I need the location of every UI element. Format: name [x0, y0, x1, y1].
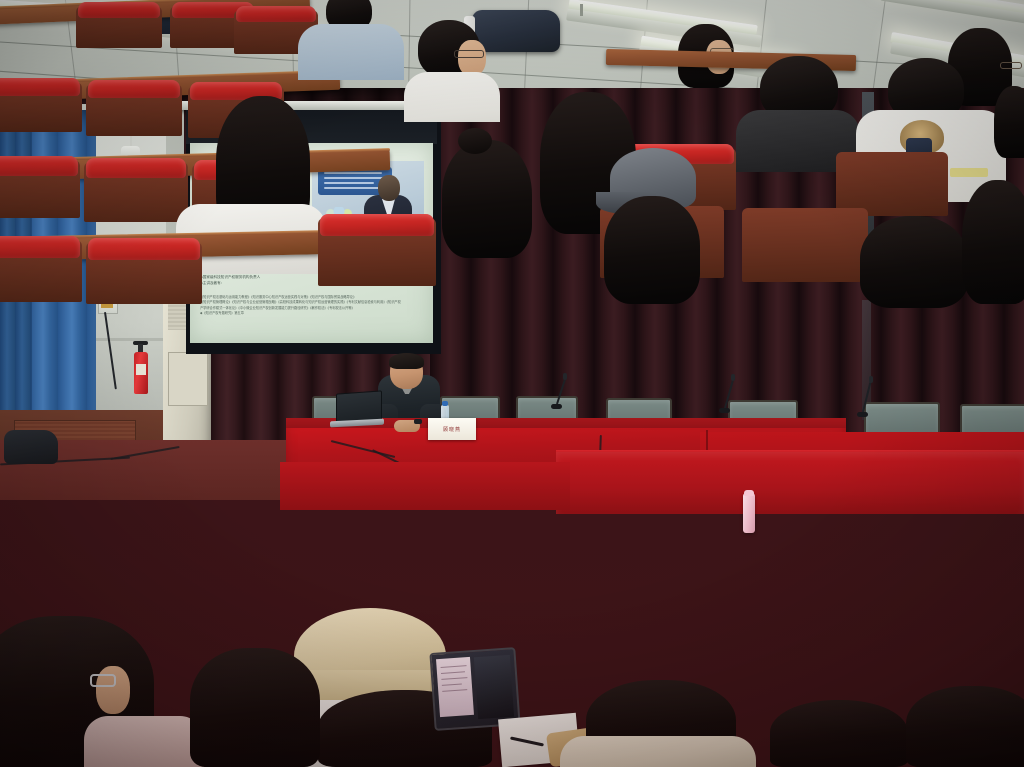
bag-on-floor — [4, 430, 58, 464]
jacket-stripe — [950, 168, 988, 177]
microphone-base — [857, 412, 868, 417]
audience-shoulders — [298, 24, 404, 80]
nameplate-text: 顾晓燕 — [443, 426, 461, 433]
seat[interactable] — [836, 152, 948, 216]
eyeglasses-icon — [1000, 62, 1022, 69]
partition-wall — [556, 452, 1024, 514]
audience-head — [906, 686, 1024, 767]
navy-jacket — [472, 10, 560, 52]
seat-cushion[interactable] — [236, 6, 316, 22]
water-bottle-cap — [442, 401, 448, 406]
speaker-hair — [389, 353, 424, 369]
audience-head — [994, 86, 1024, 158]
microphone-head — [563, 373, 567, 380]
microphone-base — [551, 404, 562, 409]
audience-shoulders — [560, 736, 756, 767]
wall-trim — [88, 338, 166, 341]
air-conditioner-panel — [168, 352, 208, 406]
fire-extinguisher-label — [136, 364, 146, 375]
seat-cushion[interactable] — [86, 158, 186, 178]
seat-cushion[interactable] — [78, 2, 160, 18]
lecture-hall-photo: 简 介 顾晓燕，毕业于南京大学，管理学博士生研究生。 ◆国家知识产权局审查员、 … — [0, 0, 1024, 767]
seat[interactable] — [742, 208, 868, 282]
audience-head — [604, 196, 700, 301]
seat-cushion[interactable] — [0, 236, 80, 258]
microphone-base — [719, 408, 730, 413]
seat-cushion[interactable] — [0, 78, 80, 96]
seat-cushion[interactable] — [0, 156, 78, 176]
speaker-wristwatch — [414, 419, 422, 424]
audience-head — [770, 700, 908, 767]
eyeglasses-icon — [90, 674, 116, 687]
slide-photo-person-head — [378, 175, 400, 201]
seat-cushion[interactable] — [88, 80, 180, 98]
audience-face — [458, 40, 486, 76]
microphone-head — [869, 376, 873, 383]
audience-head — [860, 216, 968, 301]
slide-fine-line: ◆《知识产权专题研究》第五章 — [200, 311, 430, 316]
audience-shoulders — [404, 72, 500, 122]
audience-head — [962, 180, 1024, 301]
audience-shoulders — [84, 716, 204, 767]
microphone-head — [731, 374, 735, 381]
seat-cushion[interactable] — [320, 214, 434, 236]
tablet-document — [436, 657, 474, 717]
light-stem — [580, 4, 583, 16]
eyeglasses-icon — [454, 50, 484, 58]
audience-head — [190, 648, 320, 767]
partition-wall-left — [280, 462, 570, 510]
hair-bun — [458, 128, 492, 154]
slide-fine-list: 《知识产权法基础与运用能力教程》《知识服务中心知识产权运营实践与对策》《知识产权… — [200, 295, 430, 317]
audience-head — [442, 140, 532, 258]
tablet-dark-pane — [474, 655, 514, 719]
seat-cushion[interactable] — [88, 238, 200, 260]
nameplate: 顾晓燕 — [428, 418, 476, 440]
